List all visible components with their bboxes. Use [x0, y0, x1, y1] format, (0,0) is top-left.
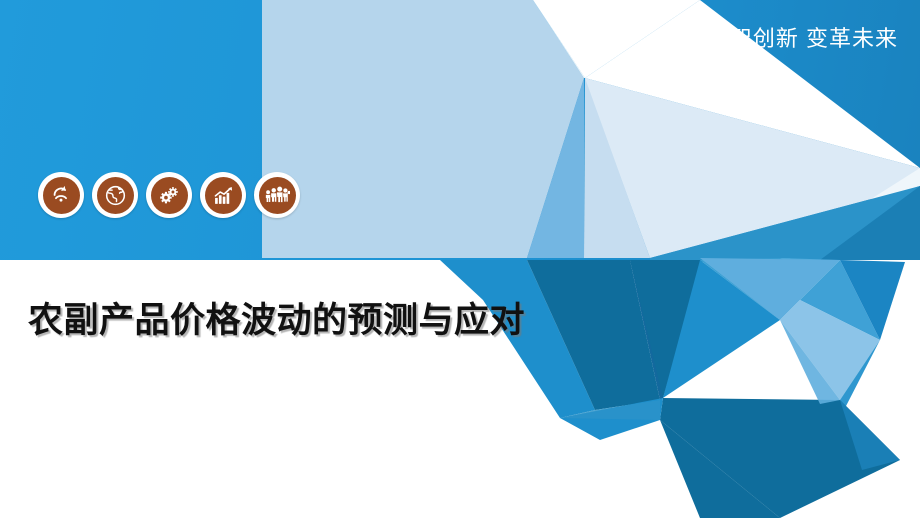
icon-badge-bar-chart[interactable] [200, 172, 246, 218]
people-group-icon [259, 177, 296, 214]
globe-icon [97, 177, 134, 214]
recycle-arrow-icon [43, 177, 80, 214]
icon-badge-recycle[interactable] [38, 172, 84, 218]
gears-icon [151, 177, 188, 214]
icon-row [38, 172, 300, 218]
icon-badge-gears[interactable] [146, 172, 192, 218]
slide-canvas: 数智创新 变革未来 [0, 0, 920, 518]
icon-badge-globe[interactable] [92, 172, 138, 218]
slide-title: 农副产品价格波动的预测与应对 [28, 296, 548, 346]
icon-badge-people[interactable] [254, 172, 300, 218]
bar-chart-growth-icon [205, 177, 242, 214]
header-kicker-text: 数智创新 变革未来 [707, 26, 898, 52]
